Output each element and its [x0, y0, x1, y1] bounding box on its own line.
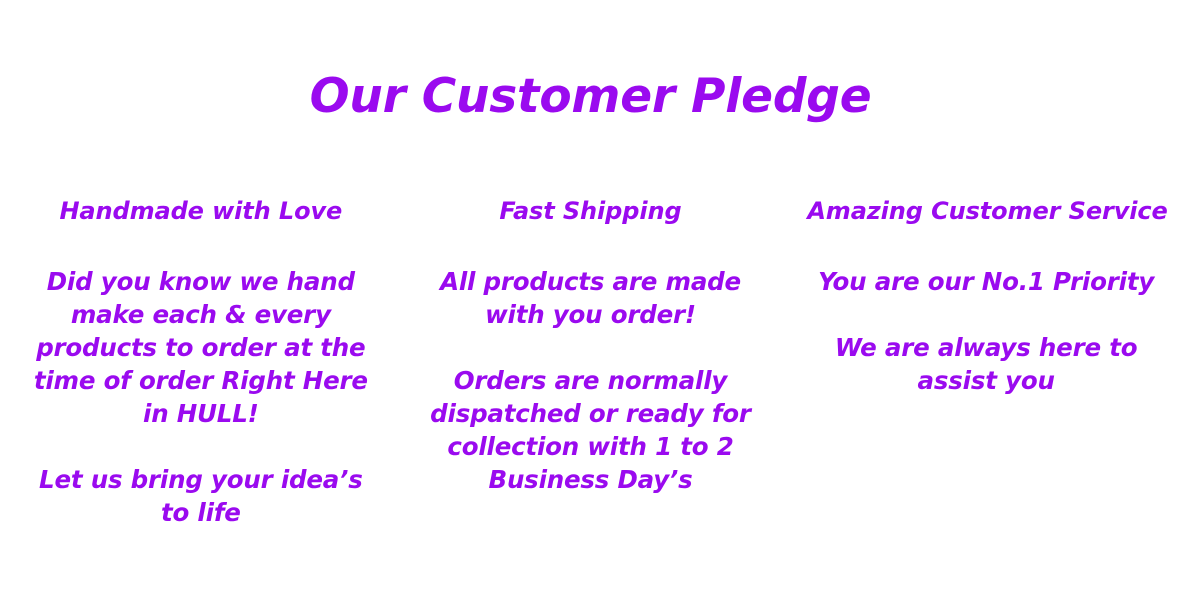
column-heading-shipping: Fast Shipping: [412, 196, 770, 226]
column-paragraph: Let us bring your idea’s to life: [22, 463, 380, 529]
column-paragraph: We are always here to assist you: [807, 331, 1165, 397]
page-title: Our Customer Pledge: [0, 68, 1181, 126]
column-paragraph: Orders are normally dispatched or ready …: [412, 364, 770, 496]
column-paragraph: You are our No.1 Priority: [807, 265, 1165, 298]
pledge-columns: Handmade with Love Did you know we hand …: [0, 196, 1181, 529]
column-body-handmade: Did you know we hand make each & every p…: [22, 265, 380, 529]
customer-pledge-page: Our Customer Pledge Handmade with Love D…: [0, 0, 1181, 591]
pledge-column-handmade: Handmade with Love Did you know we hand …: [0, 196, 394, 529]
column-paragraph: Did you know we hand make each & every p…: [22, 265, 380, 430]
column-body-service: You are our No.1 Priority We are always …: [807, 265, 1165, 397]
pledge-column-service: Amazing Customer Service You are our No.…: [787, 196, 1181, 397]
pledge-column-shipping: Fast Shipping All products are made with…: [394, 196, 788, 496]
column-heading-service: Amazing Customer Service: [807, 196, 1165, 226]
column-paragraph: All products are made with you order!: [412, 265, 770, 331]
column-body-shipping: All products are made with you order! Or…: [412, 265, 770, 496]
column-heading-handmade: Handmade with Love: [22, 196, 380, 226]
